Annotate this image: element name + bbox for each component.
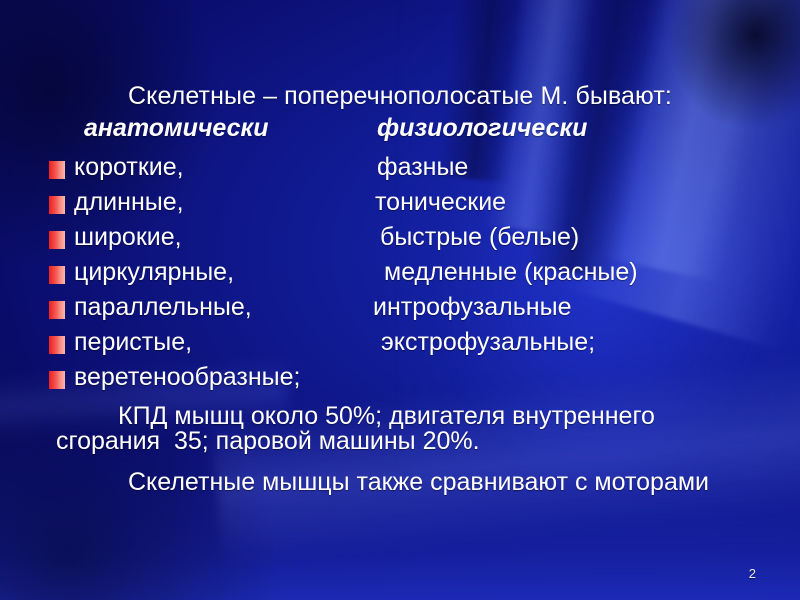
bullet-text-physiological: медленные (красные)	[384, 258, 638, 287]
bullet-text-physiological: быстрые (белые)	[380, 223, 579, 252]
red-square-bullet-icon	[49, 196, 65, 214]
bullet-text-anatomical: веретенообразные;	[74, 363, 301, 392]
bullet-text-anatomical: перистые,	[74, 328, 192, 357]
bullet-text-physiological: экстрофузальные;	[381, 328, 595, 357]
red-square-bullet-icon	[49, 266, 65, 284]
presentation-slide: Скелетные – поперечнополосатые М. бывают…	[0, 0, 800, 600]
red-square-bullet-icon	[49, 231, 65, 249]
bullet-row: циркулярные,медленные (красные)	[44, 258, 784, 293]
bullet-text-anatomical: широкие,	[74, 223, 182, 252]
red-square-bullet-icon	[49, 161, 65, 179]
red-square-bullet-icon	[49, 336, 65, 354]
bullet-row: параллельные,интрофузальные	[44, 293, 784, 328]
bullet-text-anatomical: короткие,	[74, 153, 184, 182]
column-header-anatomical: анатомически	[84, 114, 268, 143]
bullet-text-anatomical: параллельные,	[74, 293, 252, 322]
slide-title: Скелетные – поперечнополосатые М. бывают…	[0, 82, 800, 111]
bullet-row: веретенообразные;	[44, 363, 784, 398]
bullet-row: длинные,тонические	[44, 188, 784, 223]
bullet-text-physiological: тонические	[375, 188, 506, 217]
bullet-text-anatomical: циркулярные,	[74, 258, 234, 287]
page-number: 2	[749, 566, 756, 581]
bullet-row: широкие,быстрые (белые)	[44, 223, 784, 258]
bullet-text-physiological: фазные	[377, 153, 468, 182]
bullet-row: короткие,фазные	[44, 153, 784, 188]
bullet-text-physiological: интрофузальные	[373, 293, 571, 322]
paragraph-line-3: Скелетные мышцы также сравнивают с мотор…	[128, 468, 709, 497]
bullet-text-anatomical: длинные,	[74, 188, 184, 217]
paragraph-line-2: сгорания 35; паровой машины 20%.	[56, 427, 480, 456]
red-square-bullet-icon	[49, 301, 65, 319]
bullet-row: перистые,экстрофузальные;	[44, 328, 784, 363]
slide-content: Скелетные – поперечнополосатые М. бывают…	[0, 0, 800, 600]
red-square-bullet-icon	[49, 371, 65, 389]
column-header-physiological: физиологически	[377, 114, 587, 143]
